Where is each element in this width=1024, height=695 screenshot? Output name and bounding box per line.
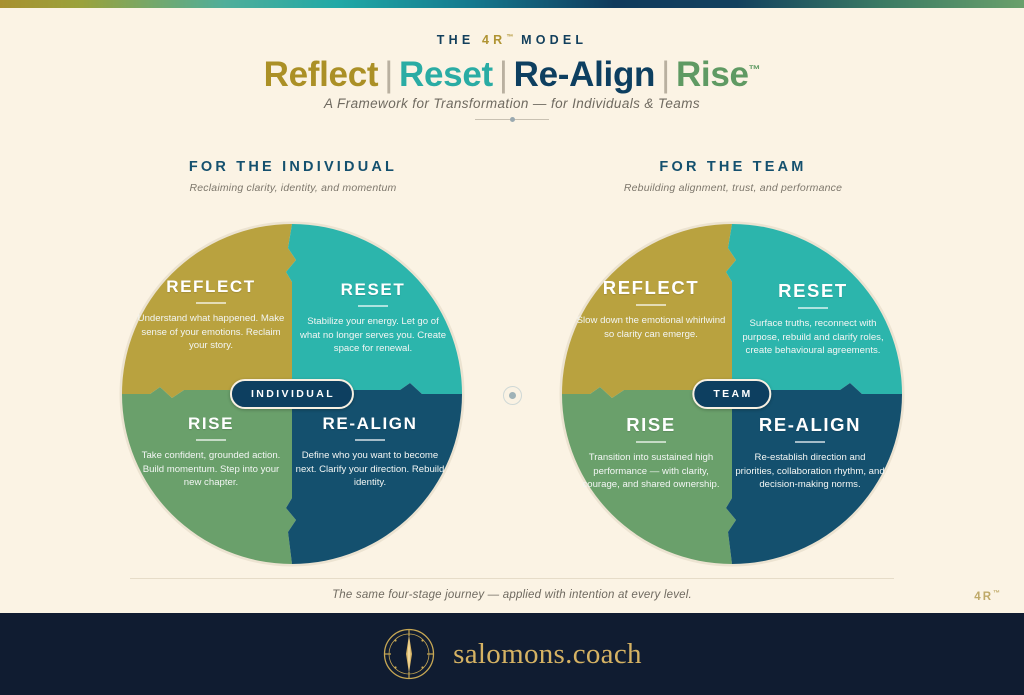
corner-mark-4r: 4R™: [974, 590, 1000, 603]
footnote-divider: [130, 578, 894, 579]
section-heading-team: FOR THE TEAM Rebuilding alignment, trust…: [568, 159, 898, 194]
section-subtitle-team: Rebuilding alignment, trust, and perform…: [568, 182, 898, 194]
title-separator-2: |: [493, 55, 514, 94]
title-separator-1: |: [378, 55, 399, 94]
eyebrow-4r: 4R: [482, 33, 506, 47]
wheel-individual: REFLECT Understand what happened. Make s…: [120, 222, 464, 566]
quadrant-reset-team: [726, 224, 902, 394]
brand-name: salomons.coach: [453, 638, 642, 671]
footer-bar: salomons.coach: [0, 613, 1024, 695]
title-word-rise: Rise: [676, 55, 749, 94]
title-separator-3: |: [655, 55, 676, 94]
quadrant-reflect-individual: [122, 224, 296, 398]
eyebrow-label: THE 4R™ MODEL: [0, 33, 1024, 47]
quadrant-reset-individual: [286, 224, 462, 394]
section-title-team: FOR THE TEAM: [568, 159, 898, 175]
compass-icon: [382, 627, 436, 681]
section-subtitle-individual: Reclaiming clarity, identity, and moment…: [128, 182, 458, 194]
quadrant-reflect-team: [562, 224, 736, 398]
corner-mark-label: 4R: [974, 591, 993, 603]
brand-name-dot: .: [565, 638, 573, 670]
quadrant-realign-individual: [286, 383, 462, 564]
wheel-team: REFLECT Slow down the emotional whirlwin…: [560, 222, 904, 566]
brand-name-part-2: coach: [573, 638, 642, 670]
eyebrow-post: MODEL: [513, 33, 587, 47]
center-badge-team: TEAM: [692, 379, 771, 409]
quadrant-rise-team: [562, 387, 736, 564]
section-heading-individual: FOR THE INDIVIDUAL Reclaiming clarity, i…: [128, 159, 458, 194]
title-word-reflect: Reflect: [264, 55, 379, 94]
page-subtitle: A Framework for Transformation — for Ind…: [0, 96, 1024, 111]
quadrant-realign-team: [726, 383, 902, 564]
brand-lockup: salomons.coach: [382, 627, 642, 681]
eyebrow-pre: THE: [437, 33, 482, 47]
title-divider-rule: [475, 119, 549, 120]
corner-trademark-icon: ™: [993, 590, 1000, 597]
title-word-reset: Reset: [399, 55, 493, 94]
quadrant-rise-individual: [122, 387, 296, 564]
center-badge-individual: INDIVIDUAL: [230, 379, 354, 409]
section-title-individual: FOR THE INDIVIDUAL: [128, 159, 458, 175]
title-trademark-icon: ™: [749, 62, 761, 76]
center-connector-dot-icon: [503, 386, 522, 405]
page-title: Reflect|Reset|Re-Align|Rise™: [0, 55, 1024, 95]
top-gradient-stripe: [0, 0, 1024, 8]
brand-name-part-1: salomons: [453, 638, 565, 670]
title-word-realign: Re-Align: [514, 55, 655, 94]
footnote-text: The same four-stage journey — applied wi…: [0, 589, 1024, 601]
